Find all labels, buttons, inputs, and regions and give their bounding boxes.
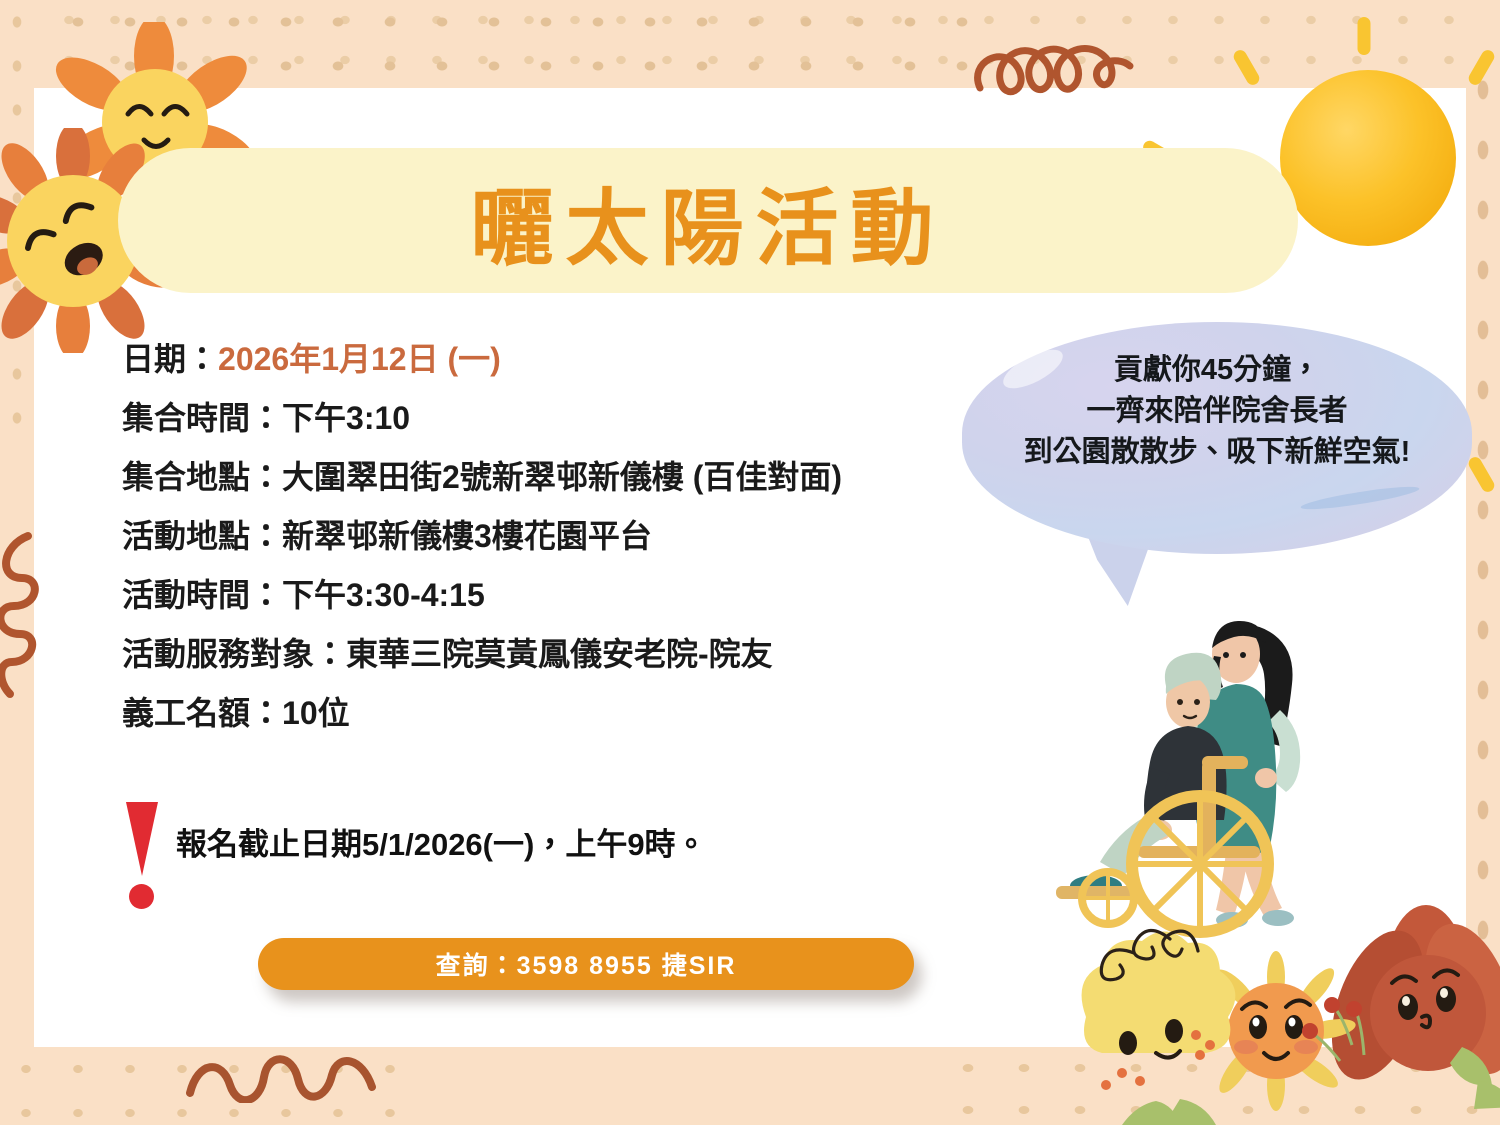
detail-label: 活動服務對象： bbox=[122, 636, 346, 672]
detail-value: 東華三院莫黃鳳儀安老院-院友 bbox=[346, 636, 773, 672]
detail-value: 新翠邨新儀樓3樓花園平台 bbox=[282, 518, 652, 554]
sun-core bbox=[1280, 70, 1456, 246]
detail-row-activity-time: 活動時間：下午3:30-4:15 bbox=[122, 579, 922, 611]
detail-label: 集合地點： bbox=[122, 459, 282, 495]
spiral-doodle-icon bbox=[958, 18, 1138, 143]
speech-line-3: 到公園散散步、吸下新鮮空氣! bbox=[1024, 432, 1411, 473]
poster-canvas: 曬太陽活動 日期：2026年1月12日 (一) 集合時間：下午3:10 集合地點… bbox=[0, 0, 1500, 1125]
speech-line-2: 一齊來陪伴院舍長者 bbox=[1086, 391, 1347, 432]
detail-value: 下午3:10 bbox=[282, 400, 410, 436]
detail-row-gathering-time: 集合時間：下午3:10 bbox=[122, 402, 922, 434]
page-title: 曬太陽活動 bbox=[118, 148, 1298, 293]
flower-faces-cluster-icon bbox=[1030, 895, 1500, 1125]
detail-label: 活動地點： bbox=[122, 518, 282, 554]
detail-label: 活動時間： bbox=[122, 577, 282, 613]
detail-value: 2026年1月12日 (一) bbox=[218, 341, 501, 377]
detail-label: 集合時間： bbox=[122, 400, 282, 436]
detail-row-gathering-place: 集合地點：大圍翠田街2號新翠邨新儀樓 (百佳對面) bbox=[122, 461, 922, 493]
deadline-notice: 報名截止日期5/1/2026(一)，上午9時。 bbox=[118, 800, 707, 908]
detail-label: 義工名額： bbox=[122, 695, 282, 731]
contact-button[interactable]: 查詢：3598 8955 捷SIR bbox=[258, 938, 914, 990]
event-details-list: 日期：2026年1月12日 (一) 集合時間：下午3:10 集合地點：大圍翠田街… bbox=[122, 343, 922, 756]
squiggle-doodle-icon bbox=[0, 530, 52, 710]
sun-ray bbox=[1358, 17, 1371, 55]
squiggle-doodle-bottom-icon bbox=[182, 1051, 382, 1103]
exclamation-bar bbox=[126, 802, 158, 876]
detail-row-date: 日期：2026年1月12日 (一) bbox=[122, 343, 922, 375]
detail-row-target-group: 活動服務對象：東華三院莫黃鳳儀安老院-院友 bbox=[122, 638, 922, 670]
speech-bubble-text: 貢獻你45分鐘， 一齊來陪伴院舍長者 到公園散散步、吸下新鮮空氣! bbox=[962, 336, 1472, 536]
detail-value: 10位 bbox=[282, 695, 350, 731]
deadline-text: 報名截止日期5/1/2026(一)，上午9時。 bbox=[176, 800, 707, 863]
exclamation-mark-icon bbox=[118, 800, 164, 908]
detail-label: 日期： bbox=[122, 341, 218, 377]
detail-value: 下午3:30-4:15 bbox=[282, 577, 485, 613]
detail-row-volunteer-quota: 義工名額：10位 bbox=[122, 697, 922, 729]
detail-row-activity-place: 活動地點：新翠邨新儀樓3樓花園平台 bbox=[122, 520, 922, 552]
sun-ray bbox=[1466, 48, 1496, 87]
speech-line-1: 貢獻你45分鐘， bbox=[1114, 350, 1320, 391]
sun-ray bbox=[1231, 48, 1261, 87]
detail-value: 大圍翠田街2號新翠邨新儀樓 (百佳對面) bbox=[282, 459, 842, 495]
exclamation-dot bbox=[129, 884, 154, 909]
